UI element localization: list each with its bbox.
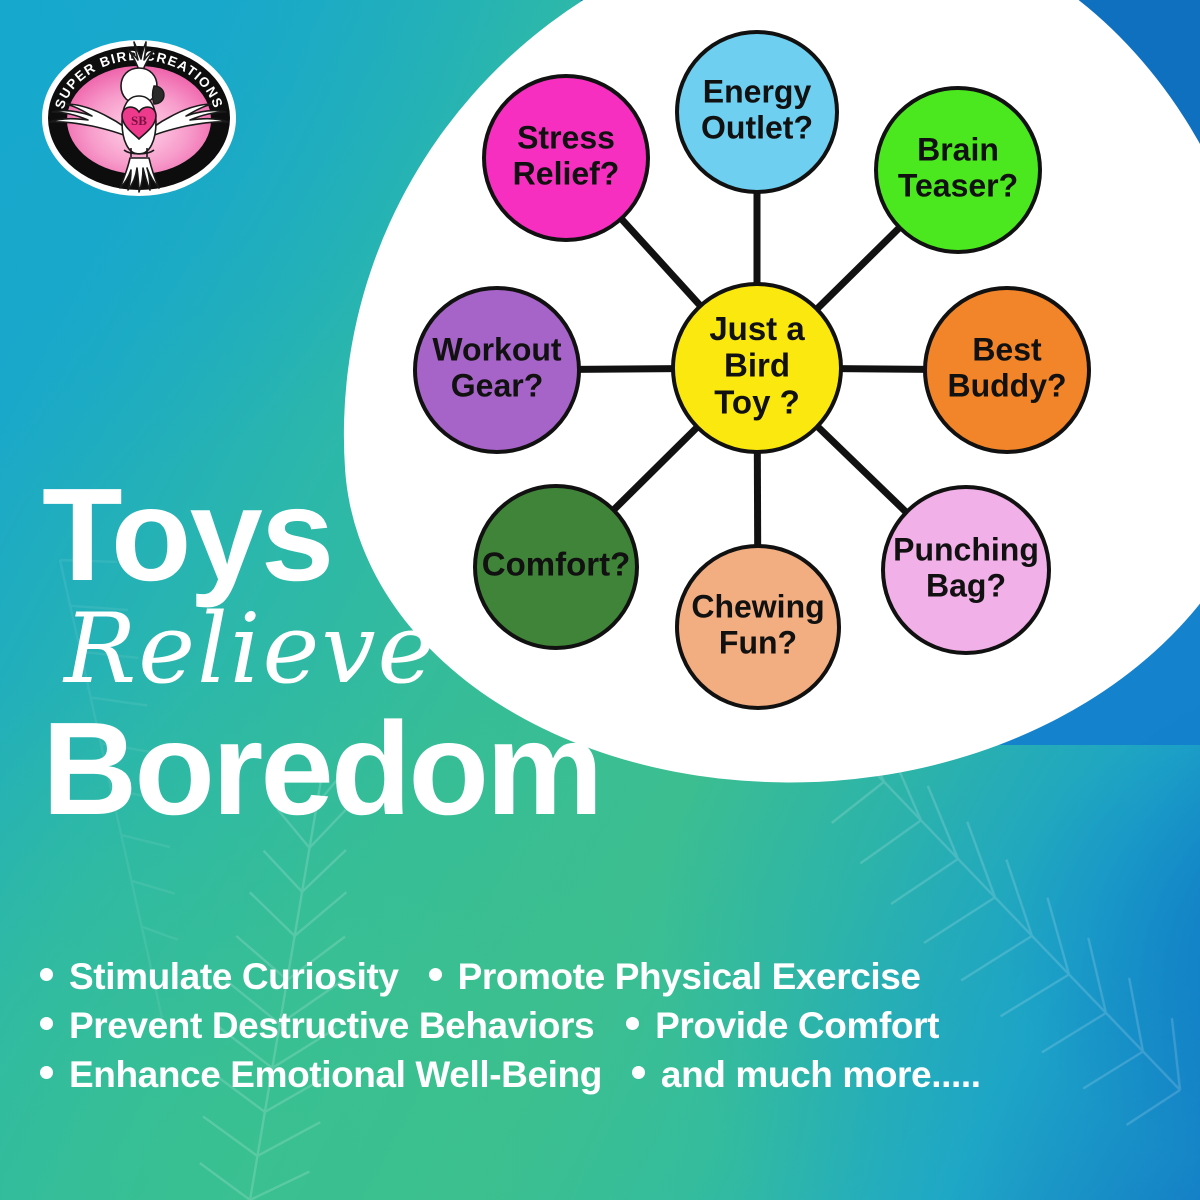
list-item-label: and much more..... bbox=[661, 1056, 981, 1095]
mind-map-node-label: Punching bbox=[893, 532, 1039, 568]
headline-block: Toys Relieve Boredom bbox=[42, 470, 742, 835]
list-item: and much more..... bbox=[632, 1056, 981, 1095]
mind-map-node-label: Stress bbox=[517, 120, 615, 156]
bullet-dot-icon bbox=[626, 1017, 639, 1030]
bullet-dot-icon bbox=[40, 1017, 53, 1030]
mind-map-edge-best-buddy bbox=[839, 369, 927, 370]
list-item: Promote Physical Exercise bbox=[429, 958, 921, 997]
mind-map-node-label: Toy ? bbox=[714, 384, 800, 421]
benefits-row: Prevent Destructive Behaviors Provide Co… bbox=[40, 1007, 1170, 1046]
mind-map-node-label: Bag? bbox=[926, 567, 1006, 603]
benefits-list: Stimulate Curiosity Promote Physical Exe… bbox=[40, 958, 1170, 1095]
mind-map-node-label: Gear? bbox=[451, 367, 543, 403]
super-bird-creations-logo: SUPER BIRD CREATIONS SB bbox=[36, 26, 242, 206]
mind-map-node-energy-outlet[interactable]: EnergyOutlet? bbox=[677, 32, 837, 192]
list-item-label: Prevent Destructive Behaviors bbox=[69, 1007, 594, 1046]
mind-map-node-label: Buddy? bbox=[947, 367, 1066, 403]
bullet-dot-icon bbox=[40, 1066, 53, 1079]
mind-map-node-center-just-a-bird-toy[interactable]: Just aBirdToy ? bbox=[673, 284, 841, 452]
mind-map-node-best-buddy[interactable]: BestBuddy? bbox=[925, 288, 1089, 452]
mind-map-node-stress-relief[interactable]: StressRelief? bbox=[484, 76, 648, 240]
mind-map-node-label: Energy bbox=[703, 74, 812, 110]
headline-line-relieve: Relieve bbox=[64, 601, 742, 697]
list-item-label: Provide Comfort bbox=[655, 1007, 939, 1046]
list-item: Stimulate Curiosity bbox=[40, 958, 399, 997]
mind-map-node-label: Teaser? bbox=[898, 167, 1018, 203]
list-item: Enhance Emotional Well-Being bbox=[40, 1056, 602, 1095]
list-item: Prevent Destructive Behaviors bbox=[40, 1007, 594, 1046]
mind-map-node-label: Workout bbox=[432, 332, 562, 368]
benefits-row: Enhance Emotional Well-Being and much mo… bbox=[40, 1056, 1170, 1095]
list-item: Provide Comfort bbox=[626, 1007, 939, 1046]
mind-map-node-label: Best bbox=[972, 332, 1042, 368]
headline-line-toys: Toys bbox=[42, 470, 742, 599]
benefits-row: Stimulate Curiosity Promote Physical Exe… bbox=[40, 958, 1170, 997]
mind-map-node-label: Bird bbox=[724, 347, 790, 384]
bullet-dot-icon bbox=[429, 968, 442, 981]
mind-map-node-workout-gear[interactable]: WorkoutGear? bbox=[415, 288, 579, 452]
bullet-dot-icon bbox=[40, 968, 53, 981]
mind-map-node-label: Just a bbox=[709, 310, 805, 347]
mind-map-node-label: Outlet? bbox=[701, 109, 813, 145]
mind-map-node-brain-teaser[interactable]: BrainTeaser? bbox=[876, 88, 1040, 252]
poster-canvas: SUPER BIRD CREATIONS SB EnergyOutlet?Bra… bbox=[0, 0, 1200, 1200]
bullet-dot-icon bbox=[632, 1066, 645, 1079]
mind-map-edge-brain-teaser bbox=[815, 226, 901, 310]
svg-text:SB: SB bbox=[131, 113, 147, 128]
list-item-label: Enhance Emotional Well-Being bbox=[69, 1056, 602, 1095]
mind-map-node-label: Brain bbox=[917, 132, 999, 168]
headline-line-boredom: Boredom bbox=[42, 703, 742, 835]
list-item-label: Promote Physical Exercise bbox=[458, 958, 921, 997]
mind-map-node-punching-bag[interactable]: PunchingBag? bbox=[883, 487, 1049, 653]
list-item-label: Stimulate Curiosity bbox=[69, 958, 399, 997]
mind-map-edge-workout-gear bbox=[577, 369, 675, 370]
mind-map-edge-punching-bag bbox=[816, 425, 908, 514]
mind-map-node-label: Relief? bbox=[513, 155, 620, 191]
mind-map-edge-stress-relief bbox=[620, 217, 702, 307]
